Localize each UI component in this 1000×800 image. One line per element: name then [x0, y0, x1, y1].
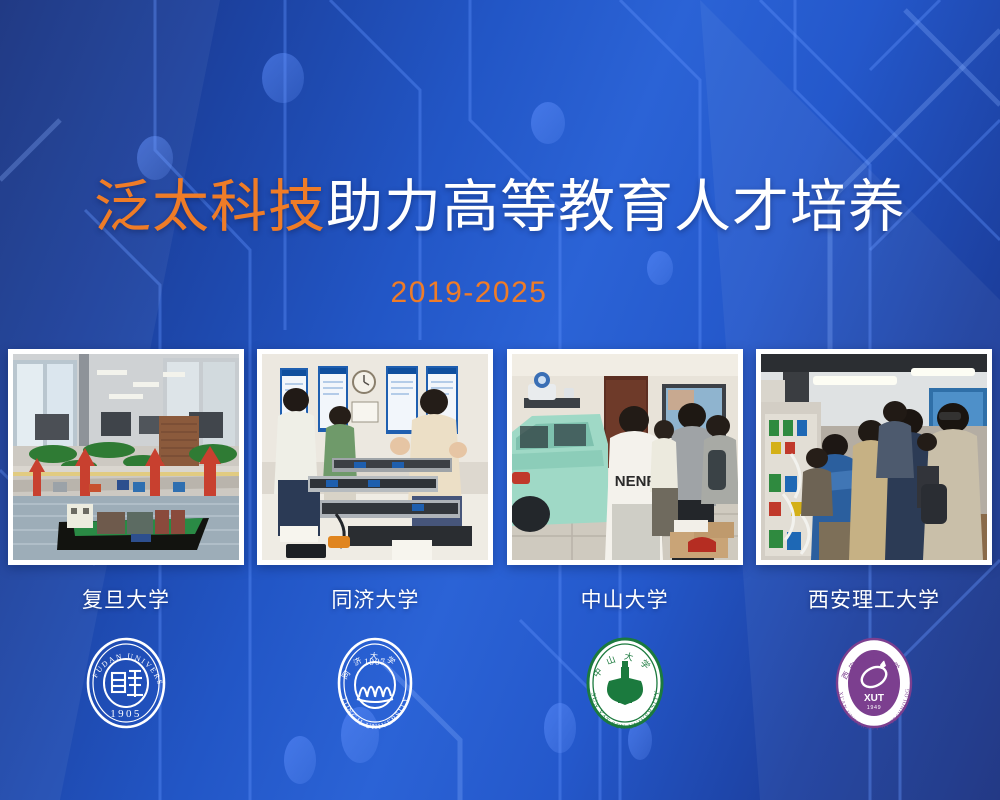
photo-frame [8, 349, 244, 565]
photo-automation-line-visit [761, 354, 987, 560]
university-card[interactable]: 西安理工大学 XUT 1949 西安理工大学 [756, 349, 992, 769]
university-card[interactable]: 复旦大学 [8, 349, 244, 769]
photo-autonomous-vehicle: NENR [512, 354, 738, 560]
poster-canvas: 泛太科技助力高等教育人才培养 2019-2025 [0, 0, 1000, 800]
xian-university-of-technology-logo: XUT 1949 西安理工大学 XI'AN UNIVERSITY OF TECH… [821, 630, 927, 736]
photo-lab-conveyor [262, 354, 488, 560]
svg-text:1949: 1949 [867, 705, 881, 711]
photo-frame [257, 349, 493, 565]
poster-title: 泛太科技助力高等教育人才培养 [0, 176, 1000, 240]
title-brand-text: 泛太科技 [94, 175, 326, 239]
university-name: 复旦大学 [82, 584, 170, 614]
photo-frame: NENR [507, 349, 743, 565]
photo-frame [756, 349, 992, 565]
tongji-university-logo: 1907 同济大学 TONGJI UNIVERSITY [322, 630, 428, 736]
university-name: 同济大学 [331, 584, 419, 614]
main-title-line: 泛太科技助力高等教育人才培养 [0, 176, 1000, 240]
university-card-row: 复旦大学 [0, 349, 1000, 769]
svg-text:TONGJI UNIVERSITY: TONGJI UNIVERSITY [340, 695, 410, 731]
poster-subtitle: 2019-2025 [0, 276, 1000, 310]
sun-yat-sen-university-logo: 中山大学 SUN YAT-SEN UNIVERSITY [572, 630, 678, 736]
fudan-university-logo: FUDAN UNIVERSITY 1905 [73, 630, 179, 736]
svg-text:1905: 1905 [110, 708, 142, 720]
university-name: 中山大学 [581, 584, 669, 614]
university-card[interactable]: 同济大学 1907 同济大学 [257, 349, 493, 769]
university-name: 西安理工大学 [808, 584, 940, 614]
title-rest-text: 助力高等教育人才培养 [326, 175, 906, 239]
photo-port-model [13, 354, 239, 560]
university-card[interactable]: NENR [507, 349, 743, 769]
svg-text:XUT: XUT [864, 693, 884, 704]
